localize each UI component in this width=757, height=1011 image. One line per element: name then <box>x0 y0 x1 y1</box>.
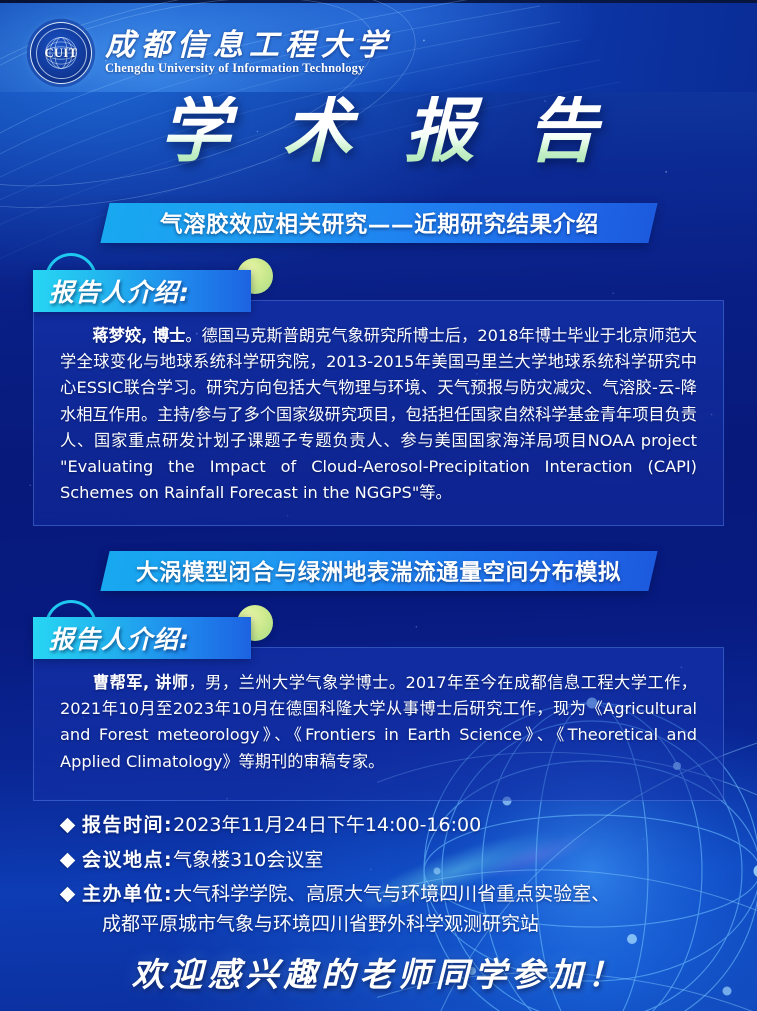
speaker-bio-panel-1: 蒋梦姣, 博士。德国马克斯普朗克气象研究所博士后，2018年博士毕业于北京师范大… <box>33 300 724 526</box>
speaker-section-header-2: 报告人介绍: <box>33 617 283 659</box>
speaker-header-label-2: 报告人介绍: <box>33 620 190 656</box>
speaker-header-label-1: 报告人介绍: <box>33 273 190 309</box>
speaker-bio-text-1: 蒋梦姣, 博士。德国马克斯普朗克气象研究所博士后，2018年博士毕业于北京师范大… <box>60 323 697 507</box>
info-organizer-block: 主办单位:大气科学学院、高原大气与环境四川省重点实验室、 成都平原城市气象与环境… <box>82 881 610 938</box>
info-organizer-continuation: 成都平原城市气象与环境四川省野外科学观测研究站 <box>102 911 610 939</box>
info-organizer-value: 大气科学学院、高原大气与环境四川省重点实验室、 <box>173 883 610 905</box>
university-logo-row: CUIT 成都信息工程大学 Chengdu University of Info… <box>30 22 393 84</box>
poster-main-title: 学 术 报 告 <box>0 96 757 167</box>
info-row-venue: 会议地点:气象楼310会议室 <box>62 847 702 875</box>
info-venue-text: 会议地点:气象楼310会议室 <box>82 847 323 875</box>
speaker-bio-text-2: 曹帮军, 讲师，男，兰州大学气象学博士。2017年至今在成都信息工程大学工作，2… <box>60 670 697 775</box>
diamond-bullet-icon <box>60 818 76 834</box>
academic-lecture-poster: CUIT 成都信息工程大学 Chengdu University of Info… <box>0 0 757 1011</box>
cuit-seal-icon: CUIT <box>30 22 92 84</box>
topic-banner-1-text: 气溶胶效应相关研究——近期研究结果介绍 <box>160 207 599 239</box>
speaker-name-1: 蒋梦姣, 博士 <box>92 326 185 345</box>
info-venue-value: 气象楼310会议室 <box>173 849 323 871</box>
info-organizer-text: 主办单位:大气科学学院、高原大气与环境四川省重点实验室、 <box>82 881 610 909</box>
speaker-name-2: 曹帮军, 讲师 <box>92 673 188 692</box>
info-row-time: 报告时间:2023年11月24日下午14:00-16:00 <box>62 812 702 840</box>
university-name-en: Chengdu University of Information Techno… <box>105 62 393 76</box>
top-edge-line <box>0 0 757 3</box>
info-time-text: 报告时间:2023年11月24日下午14:00-16:00 <box>82 812 481 840</box>
info-organizer-label: 主办单位: <box>82 883 173 905</box>
university-name-cn: 成都信息工程大学 <box>105 30 393 62</box>
university-name-block: 成都信息工程大学 Chengdu University of Informati… <box>105 30 393 76</box>
welcome-footer-text: 欢迎感兴趣的老师同学参加！ <box>0 948 757 996</box>
info-venue-label: 会议地点: <box>82 849 173 871</box>
topic-banner-2: 大涡模型闭合与绿洲地表湍流通量空间分布模拟 <box>100 551 657 591</box>
seal-wordmark: CUIT <box>45 46 78 61</box>
speaker-bio-body-1: 。德国马克斯普朗克气象研究所博士后，2018年博士毕业于北京师范大学全球变化与地… <box>60 326 697 502</box>
info-time-value: 2023年11月24日下午14:00-16:00 <box>173 814 481 836</box>
speaker-header-bar-2: 报告人介绍: <box>33 617 251 659</box>
speaker-header-bar-1: 报告人介绍: <box>33 270 251 312</box>
diamond-bullet-icon <box>60 887 76 903</box>
topic-banner-1: 气溶胶效应相关研究——近期研究结果介绍 <box>100 203 657 243</box>
speaker-bio-panel-2: 曹帮军, 讲师，男，兰州大学气象学博士。2017年至今在成都信息工程大学工作，2… <box>33 647 724 801</box>
event-info-list: 报告时间:2023年11月24日下午14:00-16:00 会议地点:气象楼31… <box>62 812 702 946</box>
speaker-section-header-1: 报告人介绍: <box>33 270 283 312</box>
info-row-organizer: 主办单位:大气科学学院、高原大气与环境四川省重点实验室、 成都平原城市气象与环境… <box>62 881 702 938</box>
diamond-bullet-icon <box>60 852 76 868</box>
topic-banner-2-text: 大涡模型闭合与绿洲地表湍流通量空间分布模拟 <box>136 555 621 587</box>
info-time-label: 报告时间: <box>82 814 173 836</box>
